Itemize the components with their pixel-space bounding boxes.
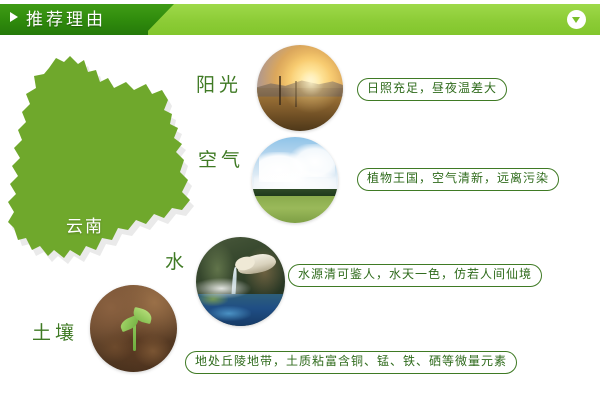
caption-air: 植物王国，空气清新，远离污染 [357, 168, 559, 191]
map-region-label: 云南 [66, 212, 104, 237]
seedling-in-soil-photo[interactable] [90, 285, 177, 372]
page-title: 推荐理由 [26, 4, 106, 35]
play-triangle-icon [10, 12, 18, 22]
category-label-air: 空气 [198, 145, 244, 172]
category-label-soil: 土壤 [32, 318, 78, 345]
category-label-water: 水 [165, 247, 188, 274]
sunrise-over-field-photo[interactable] [257, 45, 343, 131]
recommendation-reasons-panel: 推荐理由 云南 阳光 日照充足，昼夜温差大 空气 [0, 0, 600, 401]
caption-soil: 地处丘陵地带，土质粘富含铜、锰、铁、硒等微量元素 [185, 351, 517, 374]
caption-sunlight: 日照充足，昼夜温差大 [357, 78, 507, 101]
sky-and-grassland-photo[interactable] [252, 137, 338, 223]
collapse-button[interactable] [567, 10, 586, 29]
category-label-sunlight: 阳光 [196, 70, 242, 97]
water-ladle-spring-photo[interactable] [196, 237, 285, 326]
caption-water: 水源清可鉴人，水天一色，仿若人间仙境 [288, 264, 542, 287]
